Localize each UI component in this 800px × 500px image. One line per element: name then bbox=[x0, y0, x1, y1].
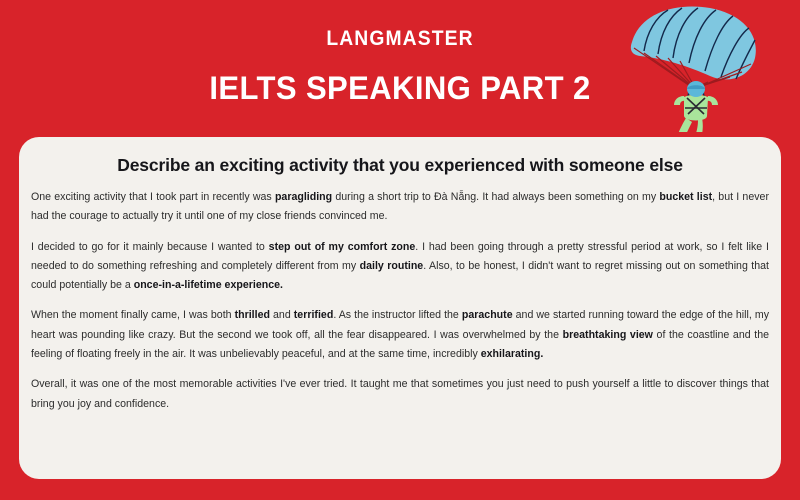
answer-paragraph: One exciting activity that I took part i… bbox=[31, 188, 769, 227]
answer-paragraph: I decided to go for it mainly because I … bbox=[31, 238, 769, 296]
answer-body: One exciting activity that I took part i… bbox=[30, 188, 770, 414]
paraglider-illustration bbox=[618, 4, 778, 132]
card-title: Describe an exciting activity that you e… bbox=[30, 155, 770, 176]
answer-paragraph: Overall, it was one of the most memorabl… bbox=[31, 375, 769, 414]
slide-root: LANGMASTER IELTS SPEAKING PART 2 bbox=[0, 0, 800, 500]
answer-card: Describe an exciting activity that you e… bbox=[19, 137, 781, 479]
answer-paragraph: When the moment finally came, I was both… bbox=[31, 306, 769, 364]
